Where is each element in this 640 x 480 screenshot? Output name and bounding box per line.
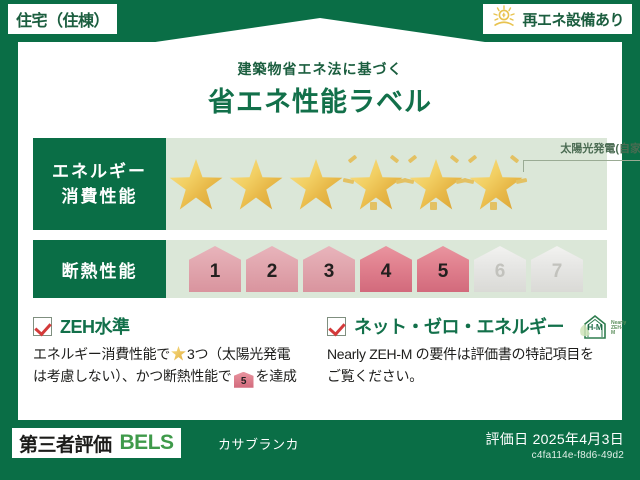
insulation-level-7: 7 [531, 246, 583, 292]
evaluation-date: 評価日 2025年4月3日 [485, 429, 624, 449]
zeh-m-logo-icon: H-M Nearly ZEH-M [576, 313, 626, 339]
star-solar-icon [466, 155, 526, 213]
star-solar-dash [490, 202, 497, 210]
inline-star-icon [171, 346, 186, 361]
star-icon [286, 155, 346, 213]
note-zeh-text-post: を達成 [256, 368, 297, 384]
insulation-level-6: 6 [474, 246, 526, 292]
note-nze-title: ネット・ゼロ・エネルギー [354, 313, 564, 339]
star-solar-dash [390, 155, 400, 164]
insulation-level-1: 1 [189, 246, 241, 292]
checkbox-checked-icon [327, 317, 346, 336]
label-subtitle: 建築物省エネ法に基づく [0, 59, 640, 79]
star-solar-dash [348, 155, 358, 164]
bels-logo-text: BELS [120, 431, 174, 455]
star-solar-dash [450, 155, 460, 164]
energy-stars-area: 太陽光発電(自家消費)分 [166, 138, 607, 230]
star-shape [229, 159, 283, 211]
star-solar-dash [516, 178, 528, 184]
note-zeh-body: エネルギー消費性能で3つ（太陽光発電 は考慮しない）、かつ断熱性能で5を達成 [33, 344, 311, 388]
star-solar-dash [468, 155, 478, 164]
star-solar-dash [370, 202, 377, 210]
checkbox-checked-icon [33, 317, 52, 336]
note-zeh-text-stars: 3つ（太陽光発電 [187, 346, 290, 362]
insulation-level-number: 7 [552, 262, 563, 292]
energy-performance-label-box: エネルギー 消費性能 [33, 138, 166, 230]
energy-performance-row: エネルギー 消費性能 太陽光発電(自家消費)分 [33, 138, 607, 230]
star-solar-dash [408, 155, 418, 164]
zeh-m-logo-sub2: ZEH-M [611, 325, 623, 336]
star-rating [166, 138, 607, 230]
owner-name: カサブランカ [218, 434, 299, 453]
star-solar-icon [346, 155, 406, 213]
building-type-badge: 住宅（住棟） [8, 4, 117, 34]
insulation-level-number: 5 [438, 262, 449, 292]
building-type-label: 住宅（住棟） [16, 7, 109, 31]
evaluation-id: c4fa114e-f8d6-49d2 [532, 450, 624, 461]
bels-chip: 第三者評価 BELS [12, 428, 181, 458]
insulation-level-scale: 1234567 [166, 240, 607, 298]
insulation-level-number: 1 [210, 262, 221, 292]
insulation-performance-row: 断熱性能 1234567 [33, 240, 607, 298]
star-icon [166, 155, 226, 213]
star-solar-icon [406, 155, 466, 213]
insulation-level-4: 4 [360, 246, 412, 292]
insulation-label: 断熱性能 [62, 257, 138, 282]
label-title: 省エネ性能ラベル [0, 80, 640, 119]
bels-jp-label: 第三者評価 [19, 430, 112, 457]
insulation-level-5: 5 [417, 246, 469, 292]
insulation-level-number: 4 [381, 262, 392, 292]
insulation-level-number: 3 [324, 262, 335, 292]
note-zeh-header: ZEH水準 [33, 312, 311, 340]
star-solar-dash [510, 155, 520, 164]
insulation-level-number: 6 [495, 262, 506, 292]
notes-area: ZEH水準 エネルギー消費性能で3つ（太陽光発電 は考慮しない）、かつ断熱性能で… [33, 312, 607, 412]
star-shape [289, 159, 343, 211]
note-nze-header: ネット・ゼロ・エネルギー H-M Nearly ZEH-M [327, 312, 607, 340]
note-zeh-title: ZEH水準 [60, 313, 130, 339]
star-shape [169, 159, 223, 211]
renewable-equipment-badge: 再エネ設備あり [483, 4, 632, 34]
sun-icon [491, 5, 517, 34]
energy-performance-label: 住宅（住棟） 再エネ設備あり 建築物省エネ法に基づく 省エ [0, 0, 640, 480]
renewable-equipment-label: 再エネ設備あり [522, 9, 624, 30]
inline-house-icon: 5 [234, 372, 254, 388]
insulation-levels-area: 1234567 [166, 240, 607, 298]
insulation-level-number: 2 [267, 262, 278, 292]
energy-label-line2: 消費性能 [62, 184, 138, 209]
insulation-level-3: 3 [303, 246, 355, 292]
star-solar-dash [430, 202, 437, 210]
footer-band: 第三者評価 BELS カサブランカ 評価日 2025年4月3日 c4fa114e… [0, 420, 640, 480]
svg-text:H-M: H-M [587, 323, 602, 332]
note-nze-body: Nearly ZEH-M の要件は評価書の特記項目をご覧ください。 [327, 344, 607, 387]
energy-label-line1: エネルギー [52, 159, 147, 184]
note-zeh-standard: ZEH水準 エネルギー消費性能で3つ（太陽光発電 は考慮しない）、かつ断熱性能で… [33, 312, 311, 412]
insulation-level-2: 2 [246, 246, 298, 292]
note-net-zero-energy: ネット・ゼロ・エネルギー H-M Nearly ZEH-M [327, 312, 607, 412]
insulation-performance-label-box: 断熱性能 [33, 240, 166, 298]
star-icon [226, 155, 286, 213]
note-zeh-text-pre: エネルギー消費性能で [33, 346, 170, 362]
note-zeh-text-mid: は考慮しない）、かつ断熱性能で [33, 368, 232, 384]
